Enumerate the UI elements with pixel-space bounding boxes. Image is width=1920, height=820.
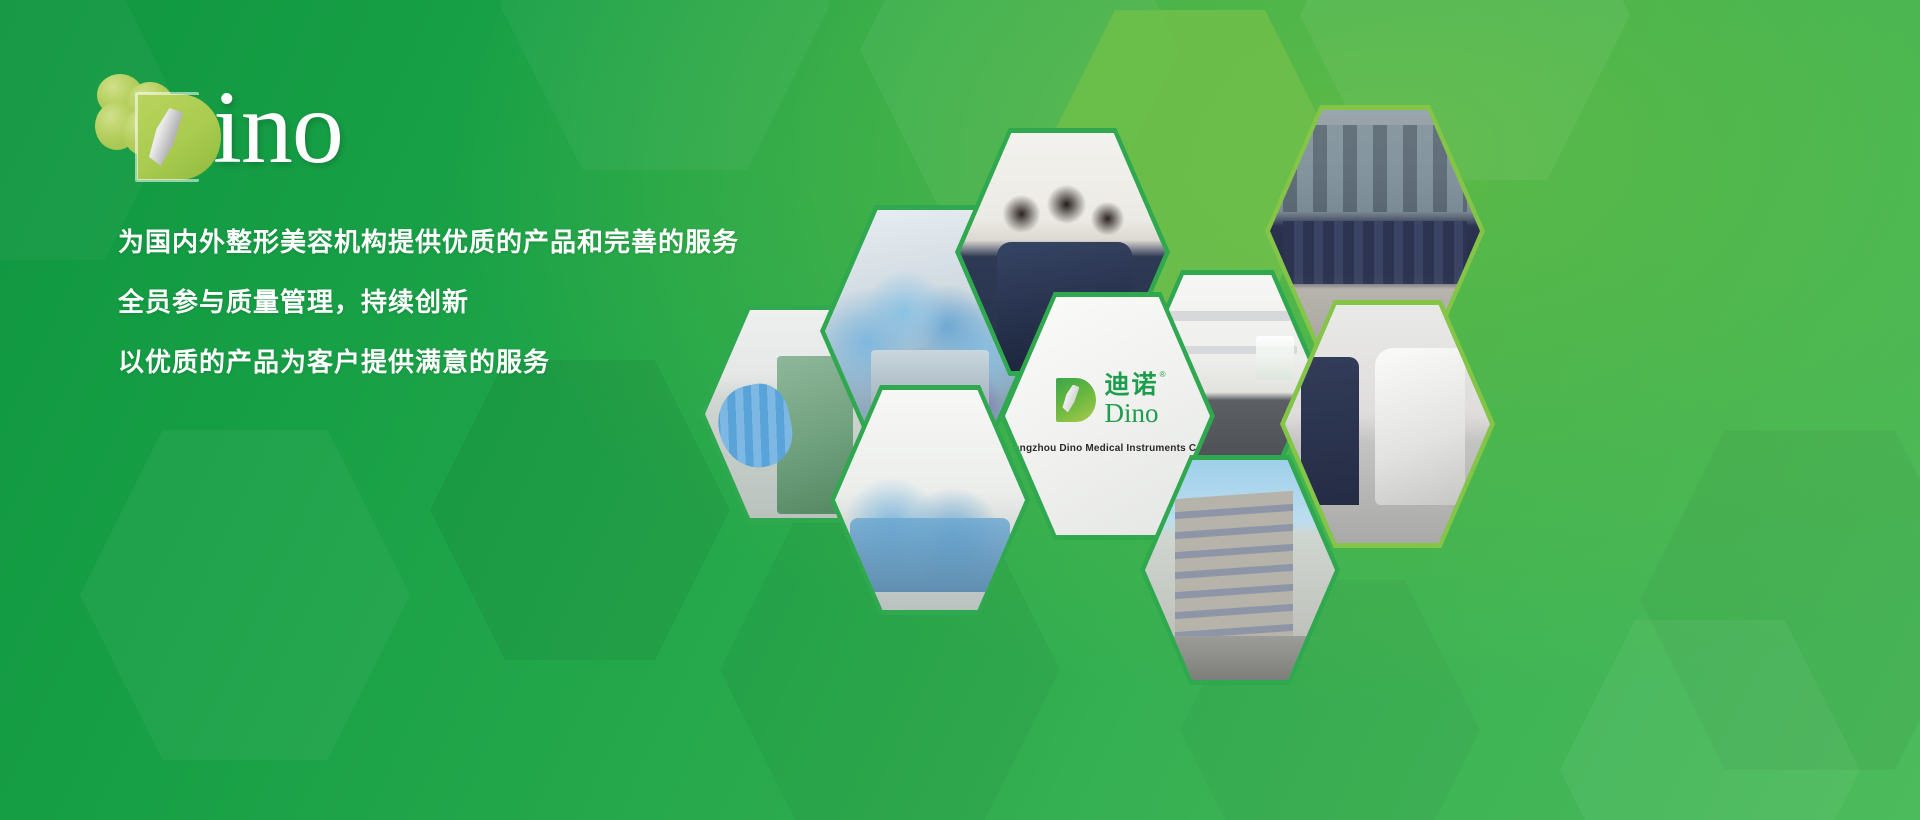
company-hero-banner: ino 为国内外整形美容机构提供优质的产品和完善的服务 全员参与质量管理，持续创… — [0, 0, 1920, 820]
brand-name-en: Dino — [1104, 400, 1158, 427]
registered-trademark-icon: ® — [1160, 371, 1168, 379]
factory-building-photo — [1145, 460, 1335, 680]
hexagon-photo-cluster: 迪诺® Dino Hangzhou Dino Medical Instrumen… — [0, 0, 1920, 820]
brand-d-leaf-icon — [1056, 378, 1096, 422]
brand-company-name: Hangzhou Dino Medical Instruments Co.. — [1006, 443, 1208, 454]
cleanroom-packaging-photo — [835, 390, 1025, 610]
brand-lockup: 迪诺® Dino — [1056, 373, 1158, 427]
brand-name-cn: 迪诺® — [1104, 373, 1158, 398]
brand-name-cn-text: 迪诺 — [1104, 371, 1158, 399]
